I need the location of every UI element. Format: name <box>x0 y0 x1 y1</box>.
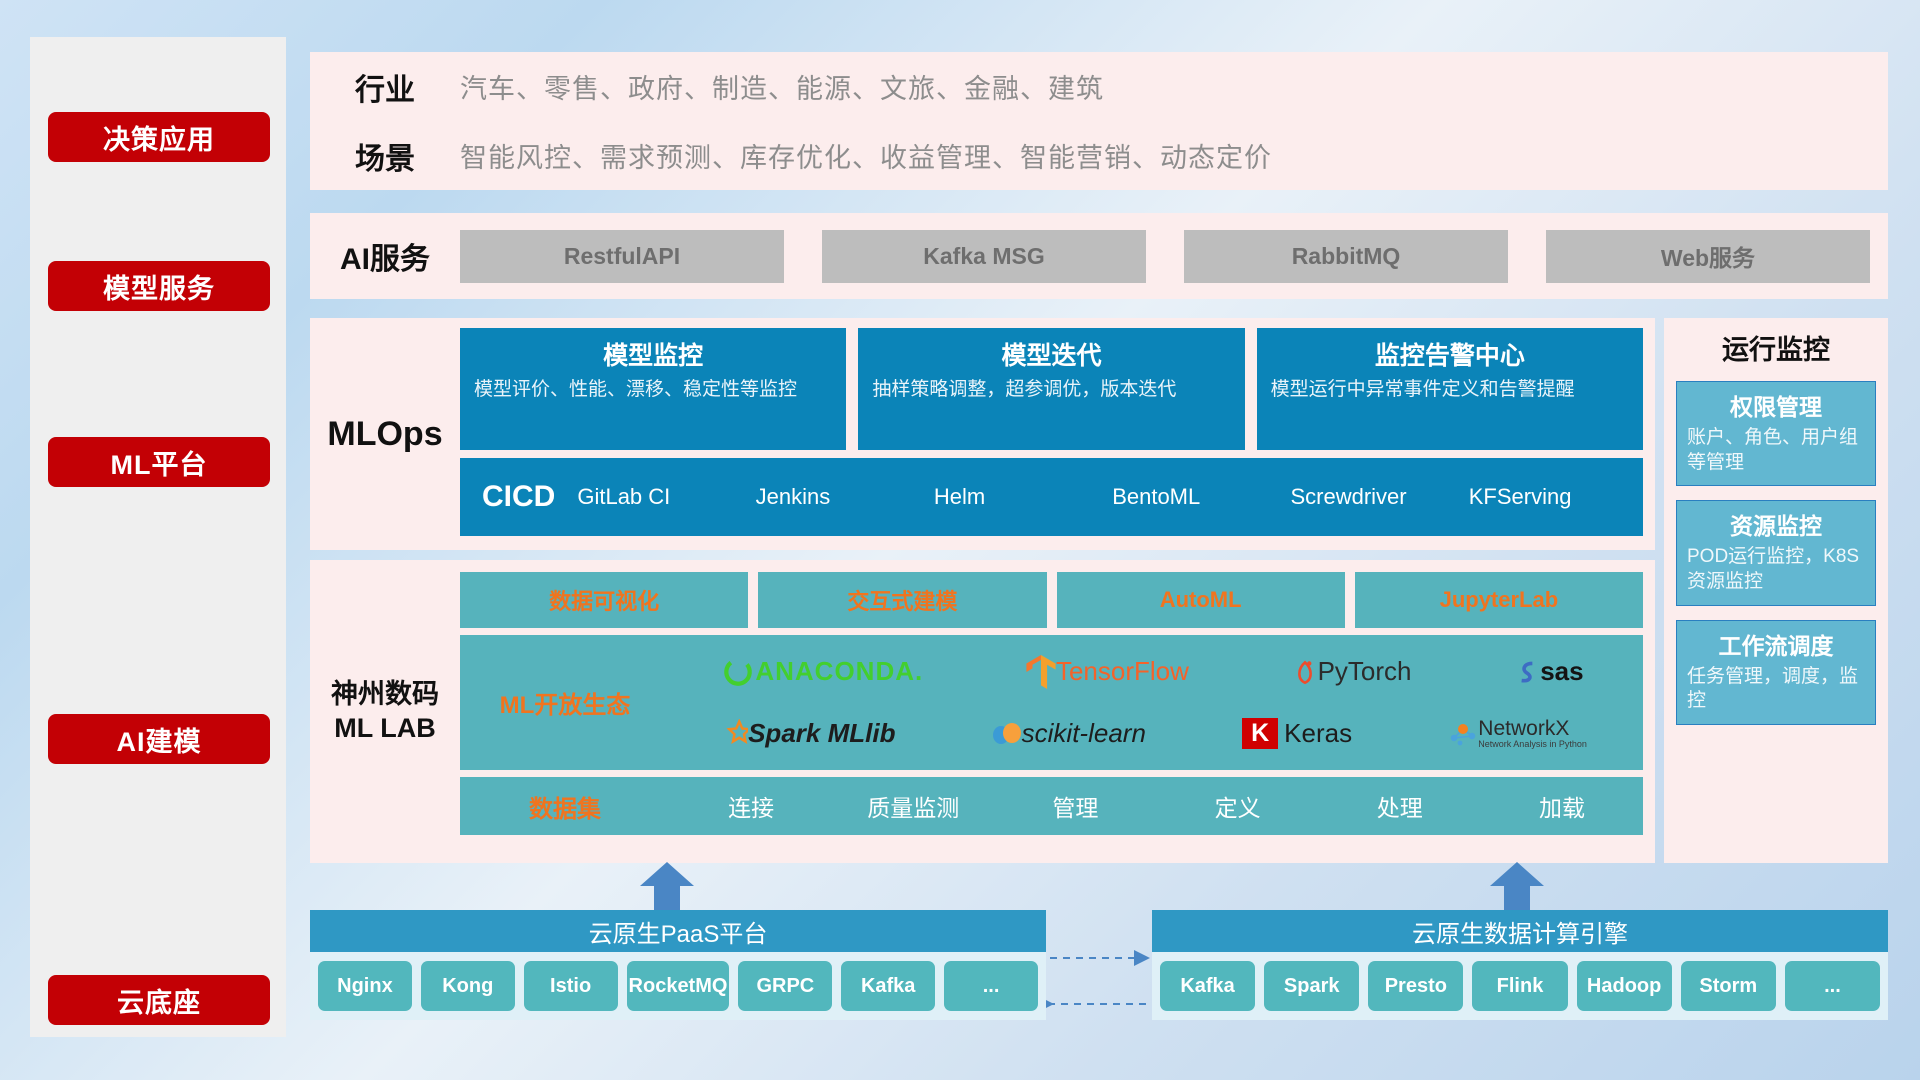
rail-label: AI建模 <box>117 720 202 759</box>
rail-label: 云底座 <box>117 981 201 1020</box>
tool-jupyterlab[interactable]: JupyterLab <box>1355 572 1643 628</box>
monitor-card-title: 资源监控 <box>1687 507 1865 541</box>
cloud-chip-kong[interactable]: Kong <box>421 961 515 1011</box>
cloud-chip-istio[interactable]: Istio <box>524 961 618 1011</box>
mlops-card-list: 模型监控 模型评价、性能、漂移、稳定性等监控 模型迭代 抽样策略调整，超参调优，… <box>460 328 1643 450</box>
cloud-chip-rocketmq[interactable]: RocketMQ <box>627 961 730 1011</box>
dataset-item-manage[interactable]: 管理 <box>994 789 1156 823</box>
cloud-chip-more[interactable]: ... <box>1785 961 1880 1011</box>
cloud-chip-hadoop[interactable]: Hadoop <box>1577 961 1672 1011</box>
scikit-learn-icon <box>992 720 1022 748</box>
cicd-item-kfserving[interactable]: KFServing <box>1465 485 1643 508</box>
tool-interactive-modeling[interactable]: 交互式建模 <box>758 572 1046 628</box>
monitor-card-workflow[interactable]: 工作流调度 任务管理，调度，监控 <box>1676 620 1876 725</box>
monitor-card-resource[interactable]: 资源监控 POD运行监控，K8S资源监控 <box>1676 500 1876 605</box>
networkx-logo: NetworkX Network Analysis in Python <box>1448 718 1587 749</box>
keras-icon: K <box>1242 718 1278 749</box>
ai-service-box-list: RestfulAPI Kafka MSG RabbitMQ Web服务 <box>460 230 1888 283</box>
cloud-data-engine-title: 云原生数据计算引擎 <box>1152 910 1888 952</box>
cloud-chip-flink[interactable]: Flink <box>1472 961 1567 1011</box>
decision-applications-band: 行业 汽车、零售、政府、制造、能源、文旅、金融、建筑 场景 智能风控、需求预测、… <box>310 52 1888 190</box>
service-box-kafka-msg[interactable]: Kafka MSG <box>822 230 1146 283</box>
pytorch-logo-text: PyTorch <box>1318 656 1412 687</box>
pytorch-logo: PyTorch <box>1292 656 1412 687</box>
dataset-item-process[interactable]: 处理 <box>1319 789 1481 823</box>
mlops-card-alert-center[interactable]: 监控告警中心 模型运行中异常事件定义和告警提醒 <box>1257 328 1643 450</box>
sas-logo-text: sas <box>1540 656 1583 687</box>
anaconda-icon <box>721 655 755 689</box>
monitor-card-title: 权限管理 <box>1687 388 1865 422</box>
mlops-card-title: 模型迭代 <box>872 336 1230 372</box>
cloud-paas-chip-list: Nginx Kong Istio RocketMQ GRPC Kafka ... <box>310 952 1046 1020</box>
cloud-data-engine-chip-list: Kafka Spark Presto Flink Hadoop Storm ..… <box>1152 952 1888 1020</box>
ecosystem-logo-grid: ANACONDA. TensorFlow <box>670 643 1643 763</box>
decision-row-scenario: 场景 智能风控、需求预测、库存优化、收益管理、智能营销、动态定价 <box>310 121 1888 190</box>
service-box-web[interactable]: Web服务 <box>1546 230 1870 283</box>
tensorflow-logo-text: TensorFlow <box>1056 656 1189 687</box>
ml-lab-label-line2: ML LAB <box>331 712 439 746</box>
mlops-card-model-iteration[interactable]: 模型迭代 抽样策略调整，超参调优，版本迭代 <box>858 328 1244 450</box>
decision-row-industry: 行业 汽车、零售、政府、制造、能源、文旅、金融、建筑 <box>310 52 1888 121</box>
cloud-chip-nginx[interactable]: Nginx <box>318 961 412 1011</box>
decision-value-scenario: 智能风控、需求预测、库存优化、收益管理、智能营销、动态定价 <box>460 136 1272 175</box>
modeling-tool-list: 数据可视化 交互式建模 AutoML JupyterLab <box>460 572 1643 628</box>
cicd-row: CICD GitLab CI Jenkins Helm BentoML Scre… <box>460 458 1643 536</box>
decision-key-scenario: 场景 <box>310 134 460 178</box>
cicd-item-screwdriver[interactable]: Screwdriver <box>1286 485 1464 508</box>
mlops-card-title: 模型监控 <box>474 336 832 372</box>
rail-label: 模型服务 <box>103 267 215 306</box>
monitor-card-desc: 任务管理，调度，监控 <box>1687 665 1865 714</box>
tensorflow-icon <box>1026 655 1056 689</box>
service-box-rabbitmq[interactable]: RabbitMQ <box>1184 230 1508 283</box>
ml-open-ecosystem-row: ML开放生态 ANACONDA. <box>460 635 1643 770</box>
cloud-chip-kafka[interactable]: Kafka <box>841 961 935 1011</box>
mlops-band: MLOps 模型监控 模型评价、性能、漂移、稳定性等监控 模型迭代 抽样策略调整… <box>310 318 1655 550</box>
decision-value-industry: 汽车、零售、政府、制造、能源、文旅、金融、建筑 <box>460 67 1104 106</box>
up-arrow-paas-icon <box>640 862 694 912</box>
dataset-item-quality[interactable]: 质量监测 <box>832 789 994 823</box>
dataset-item-load[interactable]: 加载 <box>1481 789 1643 823</box>
sas-logo: sas <box>1514 656 1583 687</box>
rail-item-model-service[interactable]: 模型服务 <box>48 261 270 311</box>
cloud-chip-more[interactable]: ... <box>944 961 1038 1011</box>
rail-item-ml-platform[interactable]: ML平台 <box>48 437 270 487</box>
tool-automl[interactable]: AutoML <box>1057 572 1345 628</box>
dataset-item-define[interactable]: 定义 <box>1157 789 1319 823</box>
rail-item-cloud-base[interactable]: 云底座 <box>48 975 270 1025</box>
tool-data-visualization[interactable]: 数据可视化 <box>460 572 748 628</box>
mlops-card-desc: 模型评价、性能、漂移、稳定性等监控 <box>474 378 832 403</box>
run-monitor-band: 运行监控 权限管理 账户、角色、用户组等管理 资源监控 POD运行监控，K8S资… <box>1664 318 1888 863</box>
cicd-item-helm[interactable]: Helm <box>930 485 1108 508</box>
ai-modeling-band: 神州数码 ML LAB 数据可视化 交互式建模 AutoML JupyterLa… <box>310 560 1655 863</box>
up-arrow-data-engine-icon <box>1490 862 1544 912</box>
spark-star-icon <box>718 719 748 749</box>
anaconda-logo: ANACONDA. <box>721 655 923 689</box>
cloud-chip-spark[interactable]: Spark <box>1264 961 1359 1011</box>
ml-lab-label: 神州数码 ML LAB <box>310 560 460 863</box>
ecosystem-logo-row-1: ANACONDA. TensorFlow <box>670 643 1635 701</box>
mlops-label: MLOps <box>310 318 460 550</box>
layer-rail: 决策应用 模型服务 ML平台 AI建模 云底座 <box>30 37 286 1037</box>
scikit-learn-logo-text: scikit-learn <box>1022 718 1146 749</box>
service-box-restfulapi[interactable]: RestfulAPI <box>460 230 784 283</box>
cloud-paas-title: 云原生PaaS平台 <box>310 910 1046 952</box>
cloud-connector-arrows <box>1046 940 1156 1030</box>
mlops-card-title: 监控告警中心 <box>1271 336 1629 372</box>
monitor-card-desc: POD运行监控，K8S资源监控 <box>1687 545 1865 594</box>
spark-mllib-logo-text: Spark MLlib <box>748 718 895 749</box>
scikit-learn-logo: scikit-learn <box>992 718 1146 749</box>
cloud-paas-group: 云原生PaaS平台 Nginx Kong Istio RocketMQ GRPC… <box>310 910 1046 1020</box>
pytorch-icon <box>1292 657 1318 687</box>
monitor-card-permission[interactable]: 权限管理 账户、角色、用户组等管理 <box>1676 381 1876 486</box>
monitor-card-desc: 账户、角色、用户组等管理 <box>1687 426 1865 475</box>
cloud-chip-grpc[interactable]: GRPC <box>738 961 832 1011</box>
decision-key-industry: 行业 <box>310 65 460 109</box>
mlops-body: 模型监控 模型评价、性能、漂移、稳定性等监控 模型迭代 抽样策略调整，超参调优，… <box>460 318 1655 550</box>
rail-label: 决策应用 <box>103 118 215 157</box>
spark-mllib-logo: Spark MLlib <box>718 718 895 749</box>
cicd-label: CICD <box>460 480 573 514</box>
networkx-icon <box>1448 720 1478 748</box>
cloud-chip-kafka[interactable]: Kafka <box>1160 961 1255 1011</box>
sas-icon <box>1514 657 1540 687</box>
tensorflow-logo: TensorFlow <box>1026 655 1189 689</box>
mlops-card-desc: 模型运行中异常事件定义和告警提醒 <box>1271 378 1629 403</box>
cicd-item-gitlab-ci[interactable]: GitLab CI <box>573 485 751 508</box>
ml-open-ecosystem-label: ML开放生态 <box>460 685 670 720</box>
cloud-chip-storm[interactable]: Storm <box>1681 961 1776 1011</box>
model-service-band: AI服务 RestfulAPI Kafka MSG RabbitMQ Web服务 <box>310 213 1888 299</box>
run-monitor-title: 运行监控 <box>1664 318 1888 367</box>
ai-service-label: AI服务 <box>310 234 460 278</box>
mlops-card-model-monitoring[interactable]: 模型监控 模型评价、性能、漂移、稳定性等监控 <box>460 328 846 450</box>
networkx-logo-subtext: Network Analysis in Python <box>1478 739 1587 749</box>
rail-item-decision[interactable]: 决策应用 <box>48 112 270 162</box>
anaconda-logo-text: ANACONDA. <box>755 656 923 687</box>
cloud-data-engine-group: 云原生数据计算引擎 Kafka Spark Presto Flink Hadoo… <box>1152 910 1888 1020</box>
dataset-label: 数据集 <box>460 789 670 824</box>
keras-logo: K Keras <box>1242 718 1352 749</box>
networkx-logo-text: NetworkX <box>1478 718 1587 739</box>
cloud-chip-presto[interactable]: Presto <box>1368 961 1463 1011</box>
ml-lab-label-line1: 神州数码 <box>331 678 439 712</box>
rail-label: ML平台 <box>111 443 208 482</box>
mlops-card-desc: 抽样策略调整，超参调优，版本迭代 <box>872 378 1230 403</box>
dataset-row: 数据集 连接 质量监测 管理 定义 处理 加载 <box>460 777 1643 835</box>
monitor-card-title: 工作流调度 <box>1687 627 1865 661</box>
keras-logo-text: Keras <box>1284 718 1352 749</box>
rail-item-ai-modeling[interactable]: AI建模 <box>48 714 270 764</box>
cicd-item-bentoml[interactable]: BentoML <box>1108 485 1286 508</box>
dataset-item-connect[interactable]: 连接 <box>670 789 832 823</box>
ai-modeling-body: 数据可视化 交互式建模 AutoML JupyterLab ML开放生态 ANA… <box>460 560 1655 863</box>
ecosystem-logo-row-2: Spark MLlib scikit-learn K Keras <box>670 705 1635 763</box>
cicd-item-jenkins[interactable]: Jenkins <box>752 485 930 508</box>
